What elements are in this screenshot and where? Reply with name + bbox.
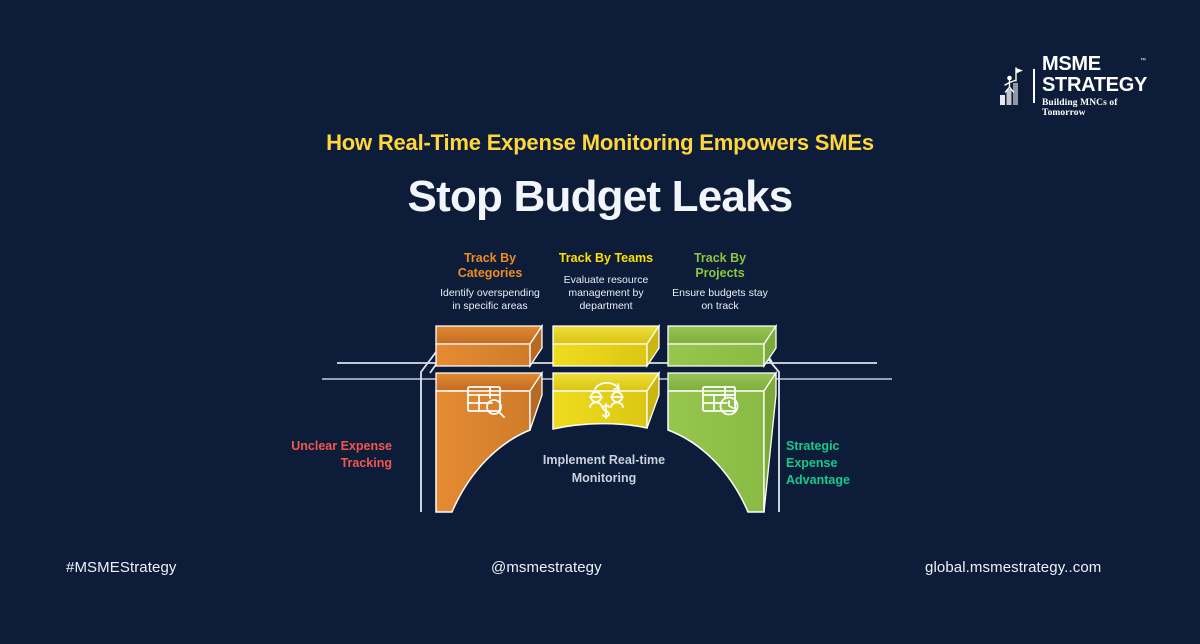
footer-hashtag: #MSMEStrategy	[66, 559, 177, 576]
footer-handle: @msmestrategy	[491, 559, 602, 576]
bridge-diagram	[0, 0, 1200, 644]
label-unclear-expense-tracking: Unclear Expense Tracking	[286, 438, 392, 472]
label-strategic-expense-advantage: Strategic Expense Advantage	[786, 438, 906, 489]
block-upper-projects	[668, 326, 776, 366]
block-upper-teams	[553, 326, 659, 366]
footer-website: global.msmestrategy..com	[925, 559, 1101, 576]
block-lower-teams	[553, 373, 659, 429]
block-lower-categories	[436, 373, 542, 512]
block-upper-categories	[436, 326, 542, 366]
label-implement-real-time-monitoring: Implement Real-time Monitoring	[474, 452, 734, 487]
block-lower-projects	[668, 373, 776, 512]
